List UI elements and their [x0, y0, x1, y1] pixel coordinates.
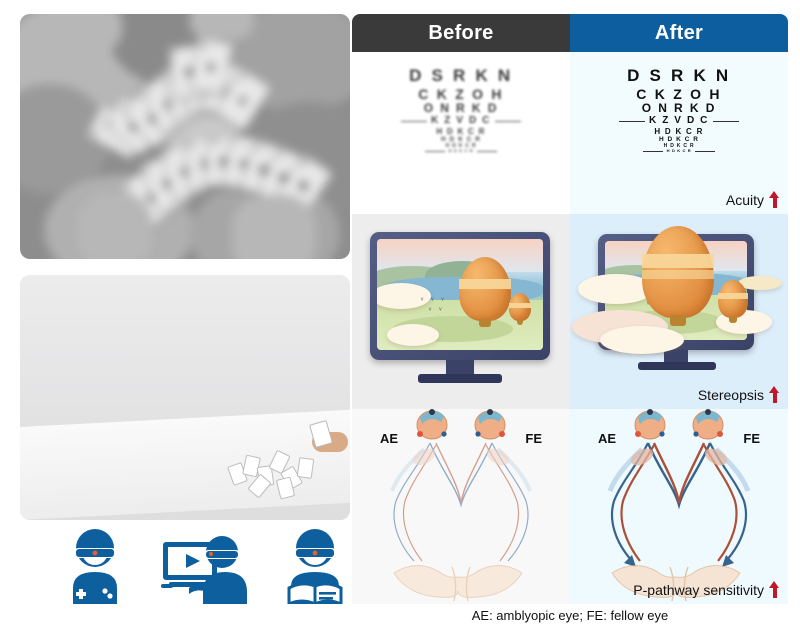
chart-line-2: C K Z O H [570, 86, 788, 102]
row-stereopsis: ᵛ ᵛ ᵛ ᵛ ᵛ [352, 214, 788, 409]
eye-fe [693, 409, 723, 439]
acuity-before-cell: D S R K N C K Z O H O N R K D K Z V D C … [352, 52, 570, 214]
balloon-small-3d [718, 280, 748, 318]
vr-video-viewer-icon [159, 526, 251, 604]
p-pathway-metric: P-pathway sensitivity [633, 581, 780, 598]
trend-up-arrow-icon [769, 386, 780, 403]
acuity-metric: Acuity [726, 191, 780, 208]
chart-line-8: H D K C R [667, 149, 692, 154]
eye-fe [475, 409, 505, 439]
tab-after[interactable]: After [570, 14, 788, 52]
balloon-small [509, 293, 531, 321]
eye-ae [635, 409, 665, 439]
eye-ae [417, 409, 447, 439]
activity-icon-row [40, 526, 370, 604]
chart-line-4: K Z V D C [649, 115, 709, 127]
stereopsis-metric: Stereopsis [698, 386, 780, 403]
eye-chart-before: D S R K N C K Z O H O N R K D K Z V D C … [352, 52, 570, 154]
row-p-pathway: AE FE [352, 409, 788, 604]
chart-line-4: K Z V D C [431, 115, 491, 127]
figure-footnote: AE: amblyopic eye; FE: fellow eye [352, 608, 788, 623]
comparison-grid: D S R K N C K Z O H O N R K D K Z V D C … [352, 52, 788, 604]
participant-wearing-ar-glasses [20, 275, 350, 520]
balloon-large-3d [642, 226, 714, 318]
acuity-after-cell: D S R K N C K Z O H O N R K D K Z V D C … [570, 52, 788, 214]
stereopsis-after-cell: ᵛ ᵛ ᵛ ᵛ ᵛ [570, 214, 788, 409]
eye-chart-after: D S R K N C K Z O H O N R K D K Z V D C … [570, 52, 788, 154]
row-visual-acuity: D S R K N C K Z O H O N R K D K Z V D C … [352, 52, 788, 214]
tab-before-label: Before [428, 22, 493, 45]
figure-root: A♠ 9♣ 7♠ 3♦ 5♣ K♥ 8♠ 2♦ J♥ Q♠ 2♦ 4♠ J♦ Q… [0, 0, 800, 639]
chart-line-1: D S R K N [570, 66, 788, 86]
before-after-comparison: Before After D S R K N C K Z O H O N R K… [352, 14, 788, 604]
balloon-large [459, 257, 511, 321]
trend-up-arrow-icon [769, 191, 780, 208]
comparison-tabs: Before After [352, 14, 788, 52]
visual-cortex [394, 565, 522, 601]
chart-line-3: O N R K D [352, 102, 570, 116]
chart-line-2: C K Z O H [352, 86, 570, 102]
chart-line-8: H D K C R [449, 149, 474, 154]
vr-gamer-icon [49, 526, 141, 604]
trend-up-arrow-icon [769, 581, 780, 598]
visual-pathway-before [352, 409, 570, 604]
p-pathway-after-cell: AE FE [570, 409, 788, 604]
chart-line-5: H D K C R [352, 127, 570, 136]
acuity-metric-label: Acuity [726, 192, 764, 208]
tab-before[interactable]: Before [352, 14, 570, 52]
television-before: ᵛ ᵛ ᵛ ᵛ ᵛ [370, 232, 550, 360]
vr-reader-icon [269, 526, 361, 604]
stereopsis-metric-label: Stereopsis [698, 387, 764, 403]
left-column: A♠ 9♣ 7♠ 3♦ 5♣ K♥ 8♠ 2♦ J♥ Q♠ 2♦ 4♠ J♦ Q… [20, 14, 350, 520]
chart-line-5: H D K C R [570, 127, 788, 136]
tab-after-label: After [655, 22, 703, 45]
p-pathway-before-cell: AE FE [352, 409, 570, 604]
chart-line-3: O N R K D [570, 102, 788, 116]
chart-line-1: D S R K N [352, 66, 570, 86]
stereopsis-before-cell: ᵛ ᵛ ᵛ ᵛ ᵛ [352, 214, 570, 409]
blurred-card-game-simulation: A♠ 9♣ 7♠ 3♦ 5♣ K♥ 8♠ 2♦ J♥ Q♠ 2♦ 4♠ J♦ Q… [20, 14, 350, 259]
visual-pathway-after [570, 409, 788, 604]
p-pathway-metric-label: P-pathway sensitivity [633, 582, 764, 598]
